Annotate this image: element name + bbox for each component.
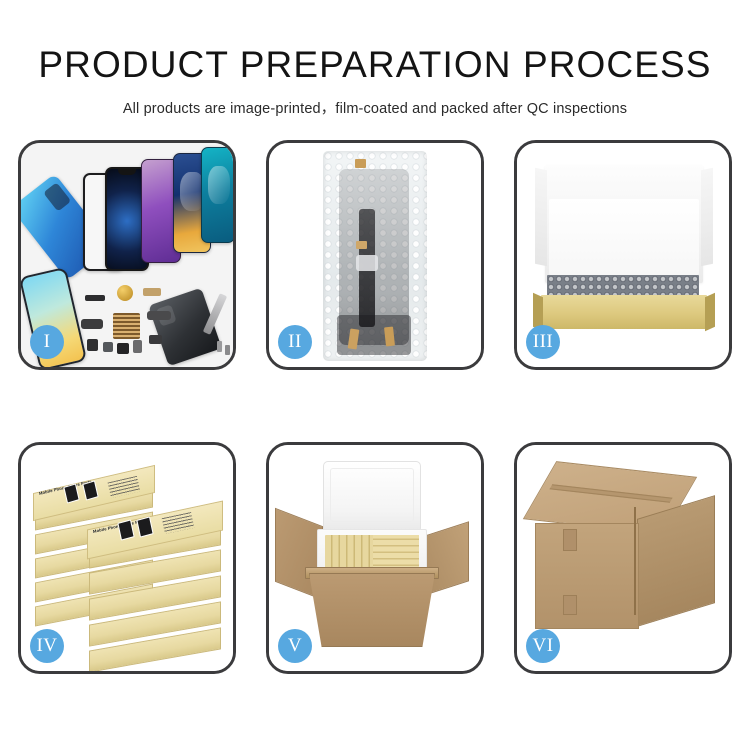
- small-component-4: [133, 340, 142, 353]
- styrofoam-lid: [323, 461, 421, 533]
- product-preparation-infographic: PRODUCT PREPARATION PROCESS All products…: [0, 0, 750, 750]
- small-component-3: [117, 343, 129, 354]
- adhesive-tape-1: [355, 159, 366, 168]
- screw-part-1: [217, 341, 222, 352]
- retail-box-stack: Mobile Phone Spare Parts Mobile Phone Sp…: [31, 463, 231, 659]
- step-badge-2: II: [278, 325, 312, 359]
- process-step-4: Mobile Phone Spare Parts Mobile Phone Sp…: [18, 442, 236, 674]
- phone-display-teal: [201, 147, 233, 243]
- header: PRODUCT PREPARATION PROCESS All products…: [0, 0, 750, 118]
- logic-board-component: [113, 313, 140, 339]
- page-title: PRODUCT PREPARATION PROCESS: [0, 44, 750, 86]
- adhesive-tape-4: [384, 327, 395, 347]
- step-badge-5: V: [278, 629, 312, 663]
- flex-cable-part-1: [81, 319, 103, 329]
- carton-front-face: [535, 523, 639, 629]
- battery-connector-part: [85, 295, 105, 301]
- carton-body: [309, 573, 435, 647]
- process-step-5: V: [266, 442, 484, 674]
- carton-side-face: [637, 495, 715, 627]
- kraft-box-base: [541, 295, 707, 329]
- foam-sheet: [549, 199, 699, 275]
- screw-part-2: [225, 345, 230, 355]
- step-badge-4: IV: [30, 629, 64, 663]
- small-component-5: [149, 335, 162, 344]
- process-step-6: VI: [514, 442, 732, 674]
- carton-tape-patch-bottom: [563, 595, 577, 615]
- carton-vertical-edge: [634, 507, 636, 615]
- speaker-component: [117, 285, 133, 301]
- page-subtitle: All products are image-printed，film-coat…: [0, 97, 750, 118]
- process-step-1: I: [18, 140, 236, 370]
- small-component-2: [103, 342, 113, 352]
- step-badge-3: III: [526, 325, 560, 359]
- flex-cable-part-3: [143, 288, 161, 296]
- step-badge-1: I: [30, 325, 64, 359]
- small-component-1: [87, 339, 98, 351]
- bubble-wrap-layer: [547, 275, 699, 297]
- process-step-2: II: [266, 140, 484, 370]
- bubble-wrap-bag: [323, 151, 427, 361]
- adhesive-tape-2: [356, 241, 367, 249]
- process-step-3: III: [514, 140, 732, 370]
- process-step-grid: I II: [18, 140, 732, 674]
- step-badge-6: VI: [526, 629, 560, 663]
- carton-tape-patch-top: [563, 529, 577, 551]
- inner-boxes-row-2: [373, 535, 419, 571]
- wrapped-connector: [356, 255, 378, 271]
- flex-cable-part-2: [147, 311, 171, 320]
